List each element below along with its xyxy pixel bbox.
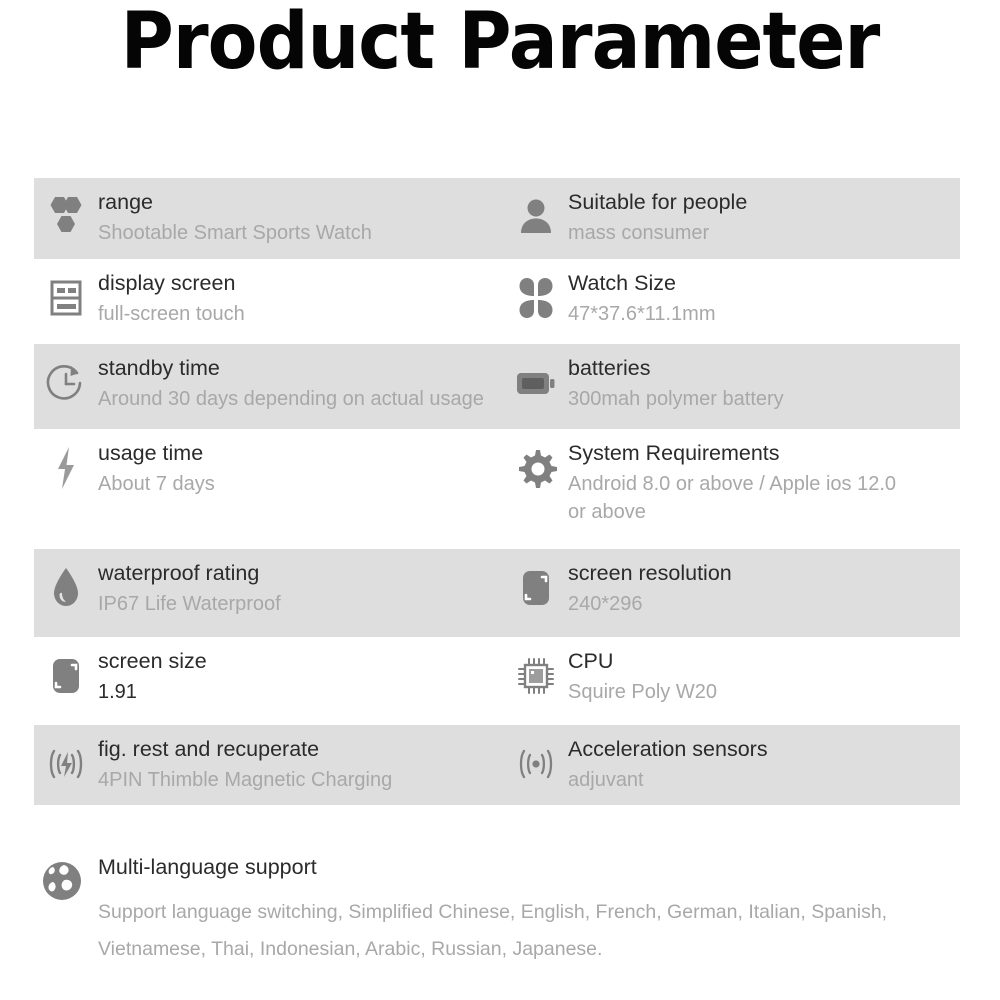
spec-label: display screen — [98, 270, 245, 298]
spec-cell-cpu: CPU Squire Poly W20 — [506, 637, 960, 725]
battery-icon — [508, 356, 564, 410]
spec-label: Watch Size — [568, 270, 716, 298]
spec-cell-acceleration-sensors: Acceleration sensors adjuvant — [506, 725, 960, 805]
spec-label: Suitable for people — [568, 189, 747, 217]
clock-refresh-icon — [38, 356, 94, 410]
spec-cell-watch-size: Watch Size 47*37.6*11.1mm — [506, 259, 960, 344]
spec-value: full-screen touch — [98, 300, 245, 328]
spec-cell-standby-time: standby time Around 30 days depending on… — [34, 344, 506, 429]
spec-label: CPU — [568, 648, 717, 676]
globe-icon — [34, 854, 90, 908]
spec-value: 4PIN Thimble Magnetic Charging — [98, 766, 392, 794]
table-row: fig. rest and recuperate 4PIN Thimble Ma… — [34, 725, 960, 805]
multi-language-description: Support language switching, Simplified C… — [98, 894, 948, 968]
spec-label: standby time — [98, 355, 484, 383]
spec-value: mass consumer — [568, 219, 747, 247]
signal-waves-icon — [508, 737, 564, 791]
spec-value: adjuvant — [568, 766, 768, 794]
spec-cell-charging: fig. rest and recuperate 4PIN Thimble Ma… — [34, 725, 506, 805]
table-row: usage time About 7 days System Requireme… — [34, 429, 960, 549]
lightning-bolt-icon — [38, 441, 94, 495]
spec-label: screen size — [98, 648, 207, 676]
spec-label: screen resolution — [568, 560, 732, 588]
spec-cell-batteries: batteries 300mah polymer battery — [506, 344, 960, 429]
multi-language-title: Multi-language support — [98, 854, 948, 882]
table-row: waterproof rating IP67 Life Waterproof s… — [34, 549, 960, 637]
table-row: standby time Around 30 days depending on… — [34, 344, 960, 429]
spec-label: System Requirements — [568, 440, 898, 468]
four-petal-icon — [508, 271, 564, 325]
spec-cell-suitable-for-people: Suitable for people mass consumer — [506, 178, 960, 259]
wireless-charging-icon — [38, 737, 94, 791]
spec-value: Around 30 days depending on actual usage — [98, 385, 484, 413]
hexagon-cluster-icon — [38, 190, 94, 244]
spec-cell-screen-size: screen size 1.91 — [34, 637, 506, 725]
spec-value: Android 8.0 or above / Apple ios 12.0 or… — [568, 470, 898, 527]
page-title: Product Parameter — [35, 2, 965, 84]
fullscreen-expand-icon — [38, 649, 94, 703]
spec-table: range Shootable Smart Sports Watch Suita… — [34, 178, 960, 805]
table-row: screen size 1.91 — [34, 637, 960, 725]
spec-label: fig. rest and recuperate — [98, 736, 392, 764]
table-row: range Shootable Smart Sports Watch Suita… — [34, 178, 960, 259]
spec-cell-waterproof-rating: waterproof rating IP67 Life Waterproof — [34, 549, 506, 637]
spec-label: waterproof rating — [98, 560, 281, 588]
spec-cell-range: range Shootable Smart Sports Watch — [34, 178, 506, 259]
display-screen-icon — [38, 271, 94, 325]
spec-value: 240*296 — [568, 590, 732, 618]
cpu-chip-icon — [508, 649, 564, 703]
spec-label: batteries — [568, 355, 784, 383]
person-icon — [508, 190, 564, 244]
spec-value: Squire Poly W20 — [568, 678, 717, 706]
spec-cell-display-screen: display screen full-screen touch — [34, 259, 506, 344]
fullscreen-expand-icon — [508, 561, 564, 615]
spec-value: 47*37.6*11.1mm — [568, 300, 716, 328]
spec-cell-system-requirements: System Requirements Android 8.0 or above… — [506, 429, 960, 549]
gear-icon — [508, 441, 564, 495]
multi-language-section: Multi-language support Support language … — [34, 852, 960, 968]
spec-cell-usage-time: usage time About 7 days — [34, 429, 506, 549]
spec-label: range — [98, 189, 372, 217]
spec-label: usage time — [98, 440, 215, 468]
spec-value: Shootable Smart Sports Watch — [98, 219, 372, 247]
water-drop-icon — [38, 561, 94, 615]
table-row: display screen full-screen touch Watch S… — [34, 259, 960, 344]
spec-label: Acceleration sensors — [568, 736, 768, 764]
spec-value: 1.91 — [98, 678, 207, 706]
spec-value: About 7 days — [98, 470, 215, 498]
spec-value: IP67 Life Waterproof — [98, 590, 281, 618]
spec-cell-screen-resolution: screen resolution 240*296 — [506, 549, 960, 637]
spec-value: 300mah polymer battery — [568, 385, 784, 413]
